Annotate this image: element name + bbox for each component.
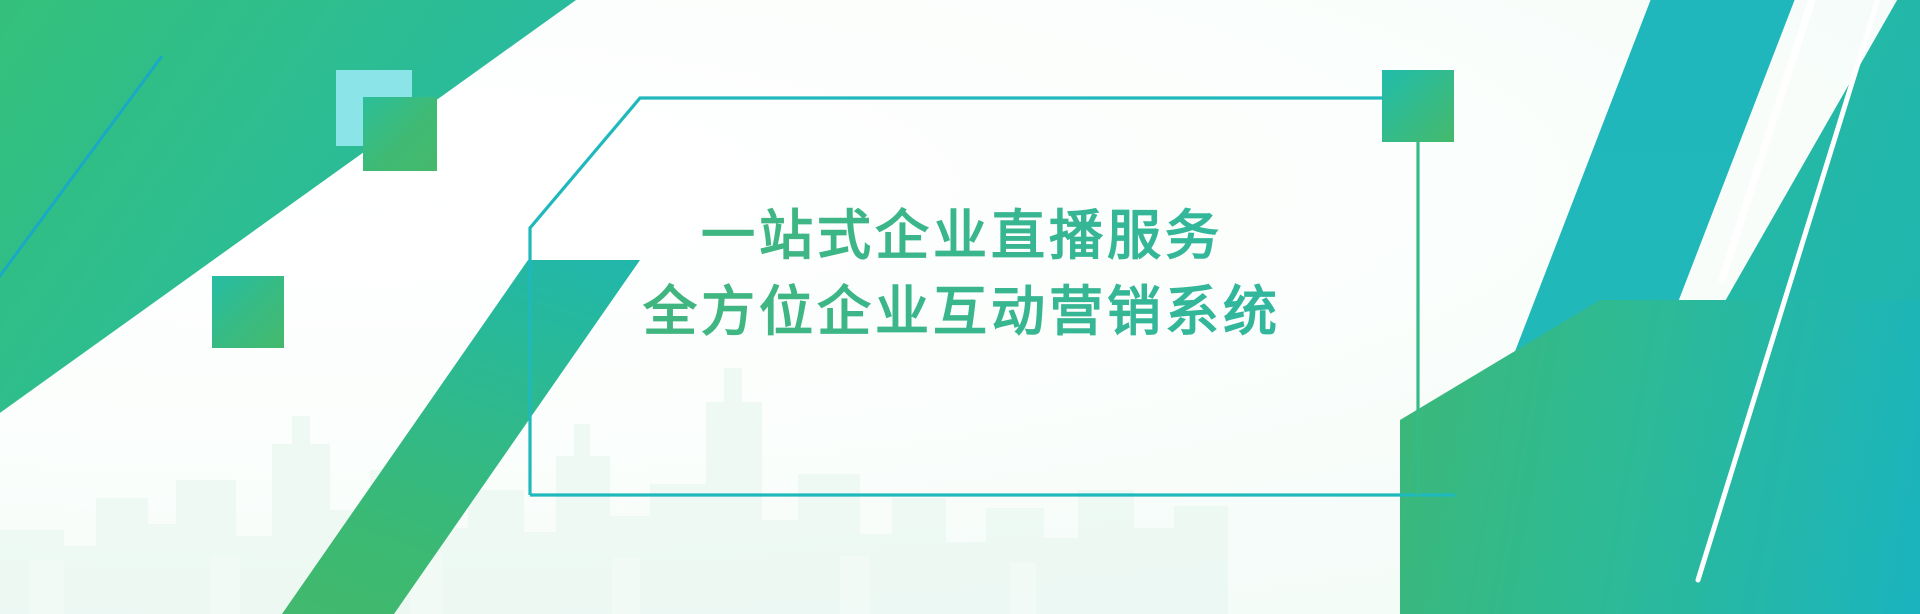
- square-green-frame-corner: [1382, 70, 1454, 142]
- square-green-decoration: [363, 97, 437, 171]
- promo-banner: 一站式企业直播服务 全方位企业互动营销系统: [0, 0, 1920, 614]
- headline-block: 一站式企业直播服务 全方位企业互动营销系统: [0, 198, 1920, 350]
- headline-line-1: 一站式企业直播服务: [0, 198, 1920, 274]
- headline-line-2: 全方位企业互动营销系统: [0, 274, 1920, 350]
